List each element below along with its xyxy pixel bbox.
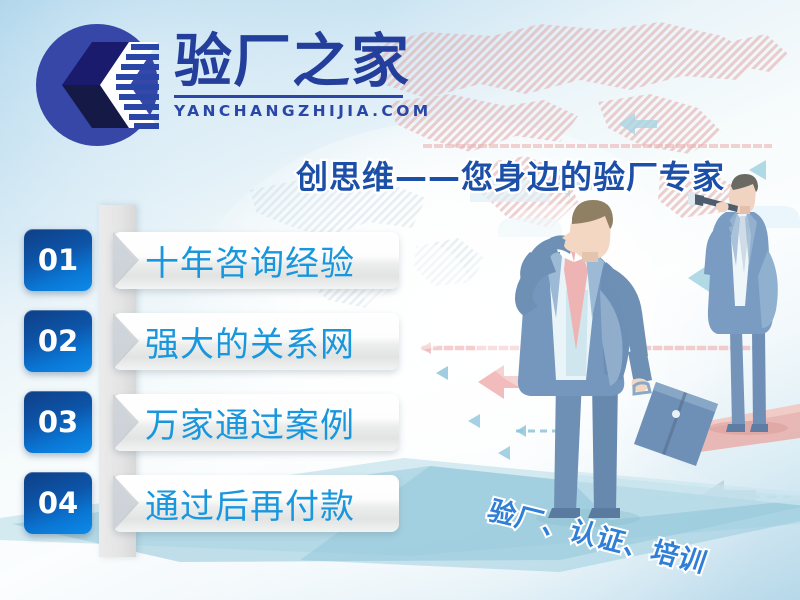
- poster-canvas: 验厂之家 YANCHANGZHIJIA.COM 创思维——您身边的验厂专家 01…: [0, 0, 800, 600]
- tagline-text: 创思维——您身边的验厂专家: [296, 152, 725, 198]
- feature-badge-2: 02: [24, 310, 92, 372]
- brand-logo-block: 验厂之家 YANCHANGZHIJIA.COM: [28, 16, 408, 141]
- feature-badge-3: 03: [24, 391, 92, 453]
- feature-label-4: 通过后再付款: [145, 475, 415, 532]
- feature-label-1: 十年咨询经验: [145, 232, 415, 289]
- feature-badge-4: 04: [24, 472, 92, 534]
- feature-label-2: 强大的关系网: [145, 313, 415, 370]
- feature-panel-notch-inner-1: [113, 232, 135, 288]
- brand-domain: YANCHANGZHIJIA.COM: [174, 102, 404, 120]
- brand-text: 验厂之家 YANCHANGZHIJIA.COM: [174, 30, 404, 120]
- feature-label-3: 万家通过案例: [145, 394, 415, 451]
- brand-rule: [174, 95, 403, 98]
- brand-name-cn: 验厂之家: [174, 30, 404, 92]
- feature-panel-notch-inner-2: [113, 313, 135, 369]
- feature-panel-notch-inner-4: [113, 475, 135, 531]
- hexagon-cube-logo-icon: [34, 22, 160, 148]
- feature-badge-1: 01: [24, 229, 92, 291]
- feature-panel-notch-inner-3: [113, 394, 135, 450]
